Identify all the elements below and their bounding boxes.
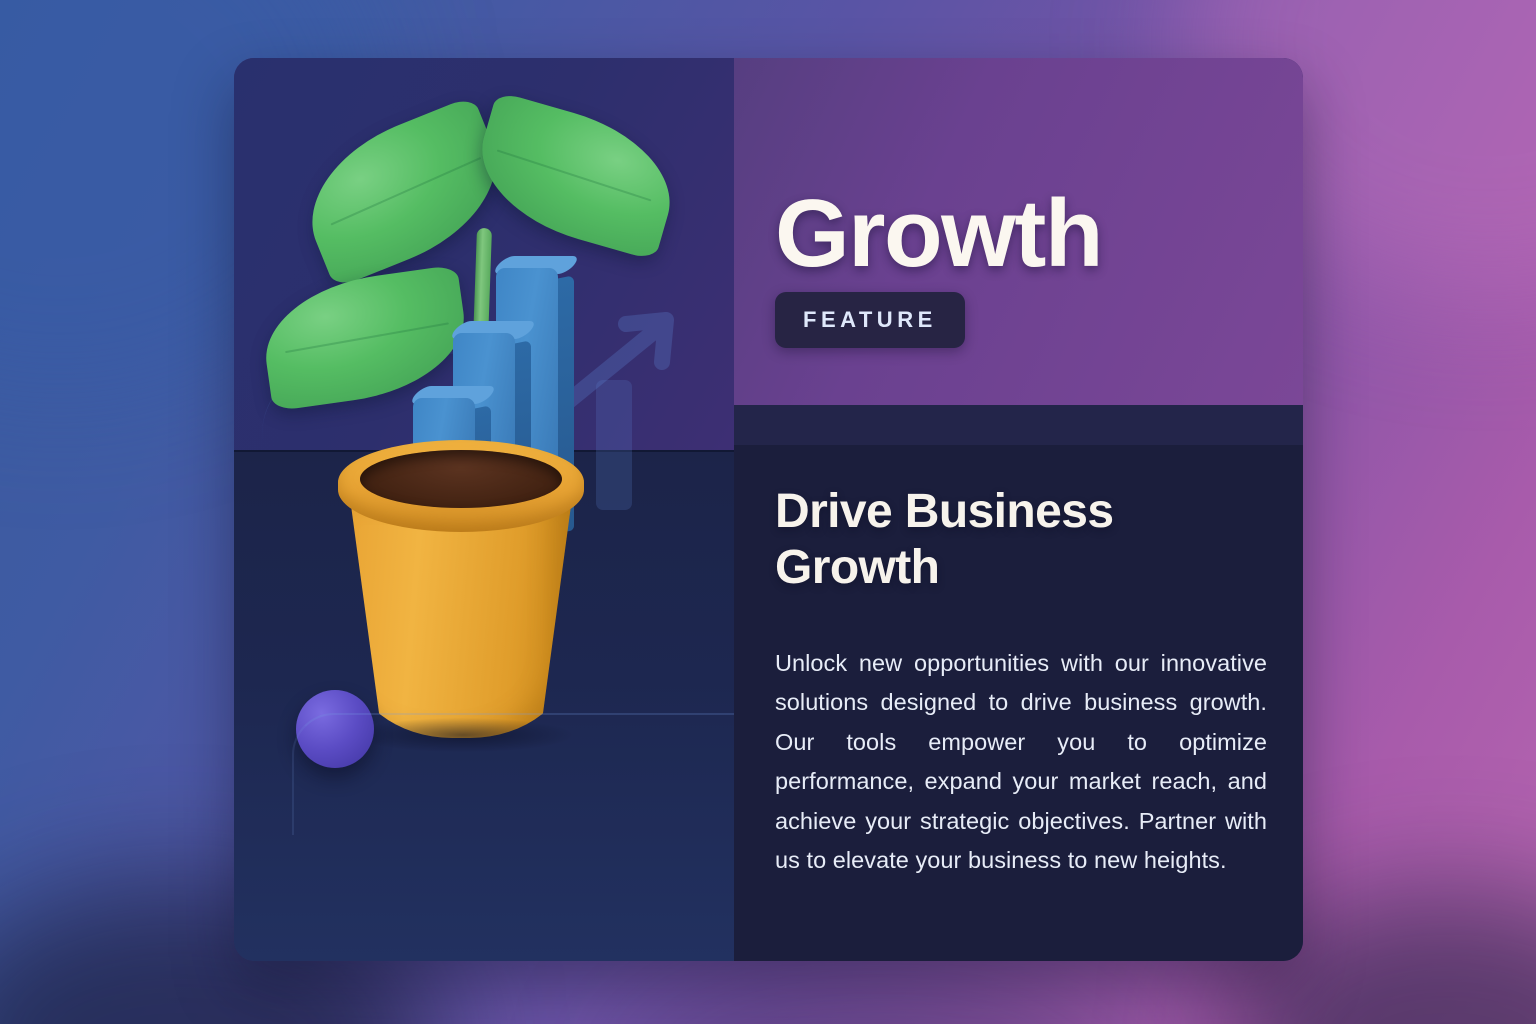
flower-pot-body bbox=[350, 498, 572, 738]
status-badge: FEATURE bbox=[775, 292, 965, 348]
section-heading: Drive Business Growth bbox=[775, 484, 1275, 595]
background-shadow-bottom-middle bbox=[620, 975, 1140, 1024]
page-title: Growth bbox=[775, 186, 1102, 282]
leaf-vein bbox=[331, 157, 482, 226]
flower-pot-opening bbox=[360, 450, 562, 508]
background-ghost-bar bbox=[596, 380, 632, 510]
leaf-vein bbox=[285, 322, 448, 353]
section-paragraph: Unlock new opportunities with our innova… bbox=[775, 644, 1267, 881]
illustration-panel bbox=[234, 58, 734, 961]
page-background: Growth FEATURE Drive Business Growth Unl… bbox=[0, 0, 1536, 1024]
leaf-vein bbox=[497, 149, 652, 201]
floor-highlight-line bbox=[292, 713, 734, 835]
feature-card: Growth FEATURE Drive Business Growth Unl… bbox=[234, 58, 1303, 961]
